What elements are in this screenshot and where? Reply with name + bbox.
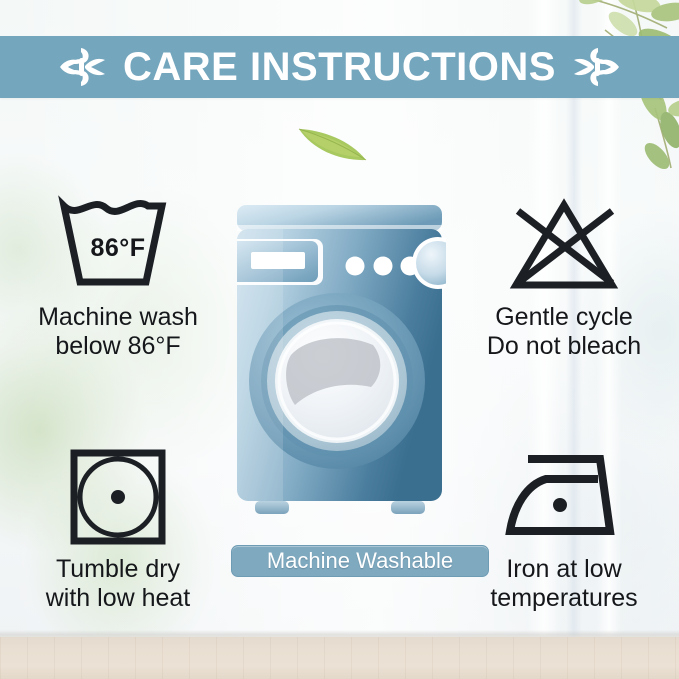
tumble-dry-square-circle-icon (68, 447, 168, 547)
care-symbol-machine-wash: 86°F Machine wash below 86°F (6, 192, 230, 360)
badge-label: Machine Washable (267, 548, 453, 574)
care-symbol-tumble-dry: Tumble dry with low heat (6, 444, 230, 612)
page-title: CARE INSTRUCTIONS (123, 45, 556, 90)
care-symbol-do-not-bleach: Gentle cycle Do not bleach (452, 192, 676, 360)
triangle-crossed-out-icon (504, 197, 624, 293)
care-instructions-graphic: CARE INSTRUCTIONS (0, 0, 679, 679)
header-banner: CARE INSTRUCTIONS (0, 36, 679, 98)
care-caption-line2: Do not bleach (452, 332, 676, 361)
wash-temperature-value: 86°F (54, 234, 182, 263)
floating-leaf-icon (296, 120, 370, 164)
fleur-de-lis-icon (570, 44, 622, 90)
care-caption-line1: Machine wash (6, 303, 230, 332)
care-caption-line1: Iron at low (452, 555, 676, 584)
fleur-de-lis-icon (57, 44, 109, 90)
care-caption-line2: below 86°F (6, 332, 230, 361)
wooden-table-surface (0, 637, 679, 679)
iron-icon (502, 451, 626, 543)
machine-washable-badge: Machine Washable (231, 545, 489, 577)
care-caption-line1: Gentle cycle (452, 303, 676, 332)
care-caption-line2: temperatures (452, 584, 676, 613)
washing-machine-illustration (233, 205, 446, 535)
care-caption-line2: with low heat (6, 584, 230, 613)
care-caption-line1: Tumble dry (6, 555, 230, 584)
care-symbol-iron: Iron at low temperatures (452, 444, 676, 612)
